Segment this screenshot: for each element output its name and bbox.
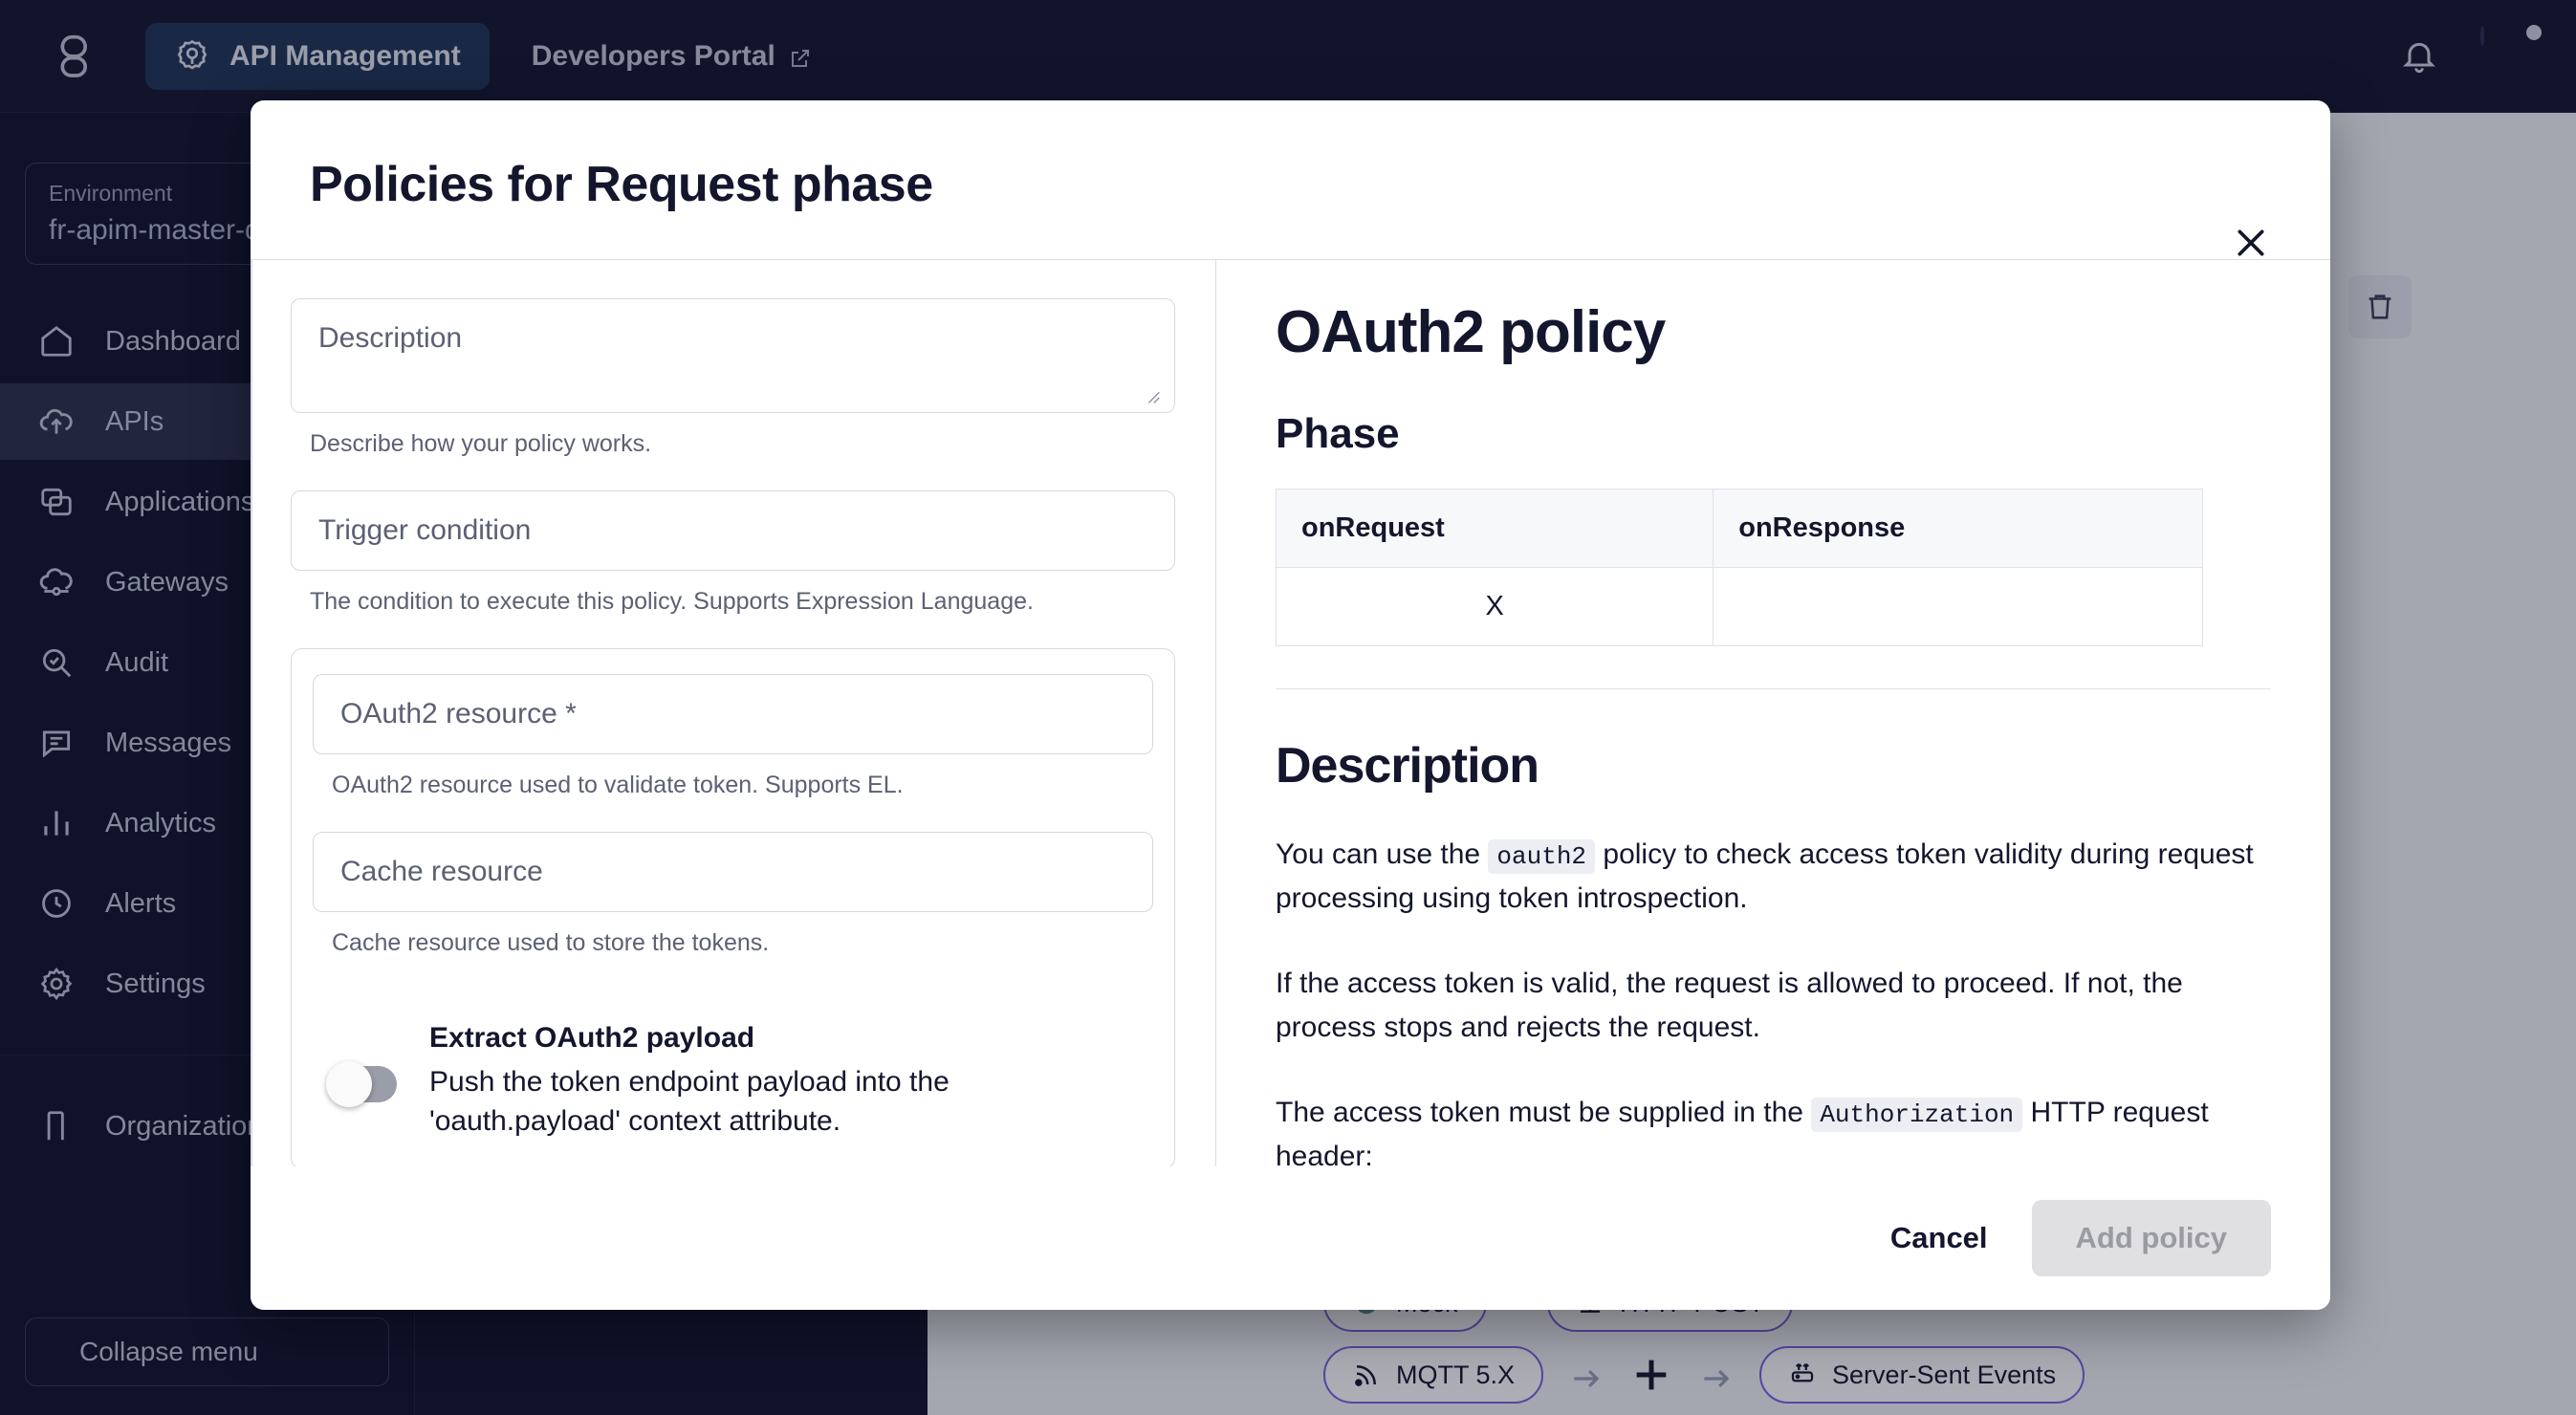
- field-description: Description Describe how your policy wor…: [291, 298, 1175, 458]
- add-policy-button[interactable]: Add policy: [2032, 1200, 2271, 1276]
- close-icon[interactable]: [2221, 213, 2281, 272]
- description-hint: Describe how your policy works.: [310, 430, 1175, 458]
- extract-payload-title: Extract OAuth2 payload: [429, 1022, 1144, 1055]
- cancel-button[interactable]: Cancel: [1890, 1221, 1988, 1255]
- policy-form-pane: Description Describe how your policy wor…: [251, 260, 1216, 1166]
- doc-p3-code: Authorization: [1811, 1098, 2022, 1132]
- trigger-condition-placeholder: Trigger condition: [318, 514, 531, 546]
- doc-p1-code: oauth2: [1488, 839, 1595, 874]
- doc-paragraph-3: The access token must be supplied in the…: [1276, 1091, 2271, 1166]
- phase-col-onrequest: onRequest: [1277, 490, 1714, 568]
- phase-cell-onrequest: X: [1277, 568, 1714, 646]
- cache-resource-hint: Cache resource used to store the tokens.: [332, 929, 1153, 957]
- doc-p3-text-a: The access token must be supplied in the: [1276, 1097, 1811, 1128]
- doc-p2-text: If the access token is valid, the reques…: [1276, 968, 2183, 1043]
- oauth2-resource-input[interactable]: OAuth2 resource *: [313, 674, 1153, 754]
- doc-p1-text-a: You can use the: [1276, 838, 1488, 870]
- cache-resource-input[interactable]: Cache resource: [313, 832, 1153, 912]
- doc-description-heading: Description: [1276, 737, 2271, 795]
- doc-divider: [1276, 688, 2271, 689]
- field-cache-resource: Cache resource Cache resource used to st…: [313, 832, 1153, 957]
- cache-resource-placeholder: Cache resource: [340, 856, 543, 887]
- dialog-body: Description Describe how your policy wor…: [251, 259, 2330, 1166]
- extract-payload-toggle[interactable]: [328, 1066, 397, 1102]
- resize-grip-icon[interactable]: [1142, 381, 1163, 403]
- doc-heading: OAuth2 policy: [1276, 298, 2271, 366]
- field-trigger-condition: Trigger condition The condition to execu…: [291, 490, 1175, 616]
- doc-paragraph-1: You can use the oauth2 policy to check a…: [1276, 833, 2271, 920]
- trigger-condition-hint: The condition to execute this policy. Su…: [310, 588, 1175, 616]
- field-extract-oauth2-payload: Extract OAuth2 payload Push the token en…: [313, 990, 1153, 1161]
- policies-dialog: Policies for Request phase Description: [251, 100, 2330, 1310]
- app-root: API Management Developers Portal: [0, 0, 2576, 1415]
- policy-doc-pane: OAuth2 policy Phase onRequest onResponse…: [1216, 260, 2330, 1166]
- toggle-knob: [326, 1061, 372, 1107]
- dialog-header: Policies for Request phase: [251, 100, 2330, 213]
- oauth2-resource-hint: OAuth2 resource used to validate token. …: [332, 772, 1153, 799]
- page-title: Policies for Request phase: [310, 156, 2271, 213]
- dialog-footer: Cancel Add policy: [251, 1166, 2330, 1310]
- description-placeholder: Description: [318, 322, 462, 354]
- doc-paragraph-2: If the access token is valid, the reques…: [1276, 962, 2271, 1049]
- doc-phase-heading: Phase: [1276, 410, 2271, 458]
- phase-table: onRequest onResponse X: [1276, 489, 2203, 646]
- phase-cell-onresponse: [1714, 568, 2203, 646]
- field-oauth2-resource: OAuth2 resource * OAuth2 resource used t…: [313, 674, 1153, 799]
- extract-payload-description: Push the token endpoint payload into the…: [429, 1062, 1144, 1142]
- oauth2-resource-placeholder: OAuth2 resource *: [340, 698, 577, 729]
- description-input[interactable]: Description: [291, 298, 1175, 413]
- extract-payload-text: Extract OAuth2 payload Push the token en…: [429, 1022, 1144, 1142]
- policy-config-group: OAuth2 resource * OAuth2 resource used t…: [291, 648, 1175, 1166]
- trigger-condition-input[interactable]: Trigger condition: [291, 490, 1175, 571]
- phase-table-header-row: onRequest onResponse: [1277, 490, 2203, 568]
- phase-table-row: X: [1277, 568, 2203, 646]
- phase-col-onresponse: onResponse: [1714, 490, 2203, 568]
